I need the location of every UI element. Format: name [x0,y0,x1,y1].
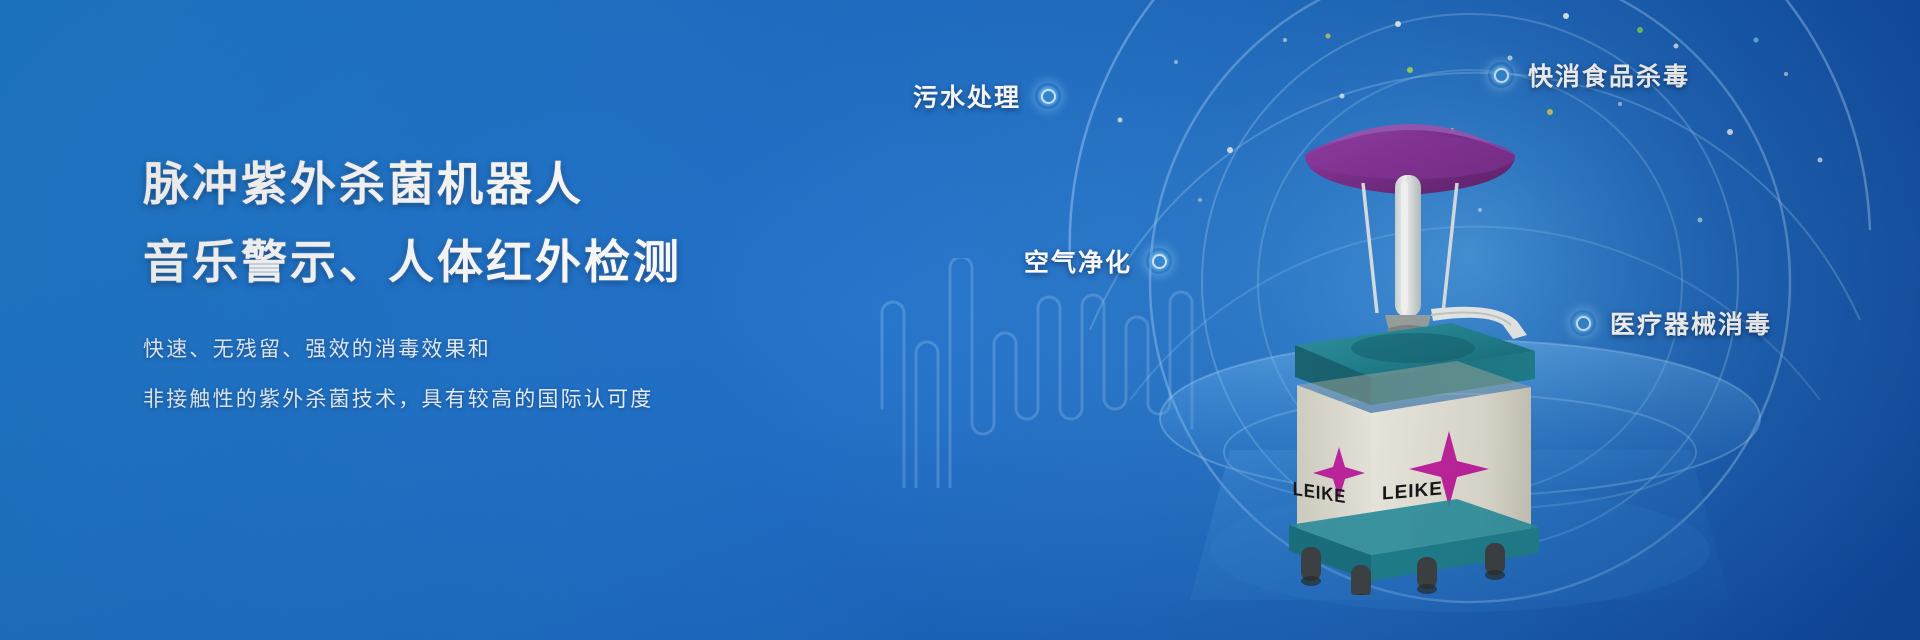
callout-label: 快消食品杀毒 [1528,57,1690,93]
callout-label: 污水处理 [913,78,1021,114]
headline-line-1: 脉冲紫外杀菌机器人 [143,150,903,218]
banner-copy: 脉冲紫外杀菌机器人 音乐警示、人体红外检测 快速、无残留、强效的消毒效果和 非接… [143,150,903,422]
callout-wastewater: 污水处理 [913,78,1061,114]
subtitle-line-1: 快速、无残留、强效的消毒效果和 [143,328,903,372]
marker-dot-icon [1570,310,1596,336]
callout-air-purification: 空气净化 [1024,243,1172,279]
marker-dot-icon [1488,62,1514,88]
callout-food-disinfection: 快消食品杀毒 [1488,57,1690,93]
marker-dot-icon [1035,83,1061,109]
callout-label: 空气净化 [1024,243,1132,279]
subtitle-line-2: 非接触性的紫外杀菌技术，具有较高的国际认可度 [143,378,903,422]
callout-label: 医疗器械消毒 [1610,305,1772,341]
uv-sterilization-robot-illustration [1245,95,1575,595]
headline-line-2: 音乐警示、人体红外检测 [143,228,903,296]
marker-dot-icon [1146,248,1172,274]
callout-medical-disinfection: 医疗器械消毒 [1570,305,1772,341]
promo-banner: LEIKE LEIKE 污水处理 快消食品杀毒 空气净化 医疗器械消毒 脉冲紫外… [0,0,1920,640]
